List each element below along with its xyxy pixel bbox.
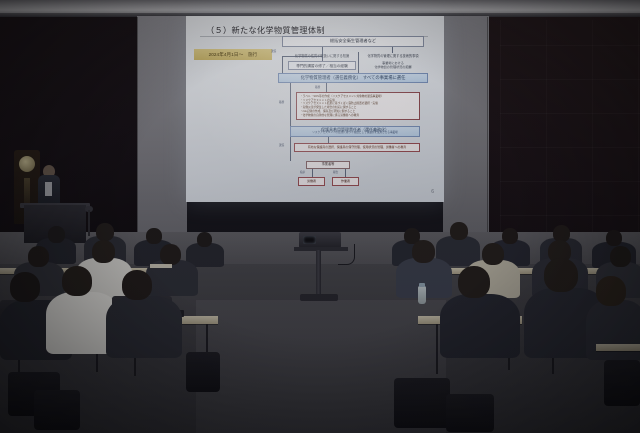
attendee-head: [596, 276, 626, 306]
projector-lens: [303, 236, 316, 244]
ceiling: [0, 0, 640, 14]
diagram-box-mid-left-label: 専門的講習の修了／相当の経験: [296, 64, 348, 68]
attendee-shoulders: [586, 300, 640, 360]
wall-seam: [487, 17, 488, 257]
attendee-head: [146, 228, 162, 244]
presenter-shirt: [45, 182, 52, 196]
connector-vertical: [290, 137, 291, 161]
diagram-box-employer-label: 事業者等: [322, 163, 335, 166]
diagram-box-employer: 事業者等: [306, 161, 350, 169]
wall-panel-grid: [500, 20, 640, 250]
effective-date-badge: 2024年4月1日〜 施行: [194, 49, 272, 60]
projector-cable: [338, 244, 355, 265]
connector-label: 職務: [315, 85, 320, 89]
diagram-box-mid-left: 専門的講習の修了／相当の経験: [288, 61, 356, 70]
projector-stand-base: [300, 294, 338, 301]
attendee-head: [122, 270, 152, 300]
connector-label: 選任: [279, 143, 284, 147]
wall-panel-right: [443, 16, 489, 256]
floor-bag: [394, 378, 450, 428]
diagram-box-ppe-duties: 有効な保護具の選択、保護具の保守管理、使用状況の管理、労働者への教育: [294, 143, 420, 152]
diagram-box-ppe-duties-label: 有効な保護具の選択、保護具の保守管理、使用状況の管理、労働者への教育: [308, 146, 406, 149]
attendee-head: [28, 246, 49, 267]
attendee-shoulders: [440, 294, 520, 358]
floor-bag: [446, 394, 494, 432]
desk: [596, 344, 640, 351]
diagram-box-mid-right-line2: 化学物質の管理状況の把握: [374, 66, 411, 69]
attendee-head: [482, 243, 504, 265]
connector-label: 選任: [271, 49, 276, 53]
diagram-box-top: 総括安全衛生管理者など: [282, 36, 424, 47]
diagram-box-duties: ・ラベル・SDS等の作成（リスクアセスメント対象物の製造事業場） ・リスクアセス…: [296, 92, 420, 120]
desk-leg: [436, 324, 438, 374]
attendee-head: [62, 266, 92, 296]
connector-vertical: [312, 169, 313, 177]
attendee-head: [10, 272, 40, 302]
projector-stand-pole: [316, 250, 321, 296]
diagram-box-chemical-manager-label: 化学物質管理者（選任義務化） すべての事業場に選任: [301, 76, 406, 81]
connector-label: 指示: [300, 170, 305, 174]
floor-bag: [34, 390, 80, 430]
attendee-head: [48, 226, 65, 243]
diagram-caption-left: 化学物質の性質や取扱いに関する知識: [288, 53, 356, 58]
water-bottle: [418, 286, 426, 304]
effective-date-text: 2024年4月1日〜 施行: [209, 52, 258, 58]
clock-face: [19, 156, 35, 172]
attendee-head: [502, 228, 518, 244]
connector-vertical: [290, 83, 291, 127]
attendee-head: [450, 222, 468, 240]
diagram-caption-right: 化学物質の管理に関する技術的事項: [362, 53, 424, 58]
diagram-box-top-label: 総括安全衛生管理者など: [330, 39, 376, 44]
lecture-hall-photo: （５）新たな化学物質管理体制 2024年4月1日〜 施行 総括安全衛生管理者など…: [0, 0, 640, 433]
projection-screen: （５）新たな化学物質管理体制 2024年4月1日〜 施行 総括安全衛生管理者など…: [186, 16, 444, 202]
floor-bag: [186, 352, 220, 392]
diagram-box-operator: 作業者: [332, 177, 359, 186]
attendee-head: [160, 244, 181, 265]
microphone-stand: [88, 210, 90, 236]
bottle-cap: [419, 283, 425, 287]
connector-vertical: [358, 52, 359, 74]
attendee-head: [544, 258, 578, 292]
attendee-head: [458, 266, 490, 298]
attendee-shoulders: [106, 296, 182, 358]
slide-title: （５）新たな化学物質管理体制: [206, 24, 325, 36]
diagram-box-mid-right: 事業場における 化学物質の管理状況の把握: [362, 60, 424, 71]
attendee-head: [92, 240, 115, 263]
diagram-box-worker-label: 労働者: [307, 180, 316, 183]
floor-bag: [604, 360, 640, 406]
connector-vertical: [345, 169, 346, 177]
connector-vertical: [326, 83, 327, 92]
connector-label: 職務: [279, 100, 284, 104]
duties-item: ・化学物質の自律的な管理に係る労働者への教育: [300, 114, 383, 118]
duties-list: ・ラベル・SDS等の作成（リスクアセスメント対象物の製造事業場） ・リスクアセス…: [300, 95, 383, 117]
connector-label: 報告: [333, 170, 338, 174]
wall-panel-left: [137, 16, 187, 251]
attendee-head: [412, 240, 435, 263]
diagram-box-chemical-manager: 化学物質管理者（選任義務化） すべての事業場に選任: [278, 73, 428, 83]
attendee-head: [197, 232, 212, 247]
attendee-head: [96, 223, 114, 241]
diagram-box-ppe-manager: 保護具着用管理責任者（選任義務化） リスクアセスメントの結果に基づく措置として保…: [290, 126, 420, 137]
diagram-box-operator-label: 作業者: [341, 180, 350, 183]
slide-page-number: 6: [431, 189, 434, 195]
handout-paper: [150, 264, 172, 268]
diagram-box-ppe-manager-sub: リスクアセスメントの結果に基づく措置として保護具を使用させる事業場: [312, 132, 397, 135]
attendee-head: [606, 230, 622, 246]
attendee-head: [610, 246, 631, 267]
diagram-box-worker: 労働者: [298, 177, 325, 186]
wall-seam: [137, 17, 138, 257]
